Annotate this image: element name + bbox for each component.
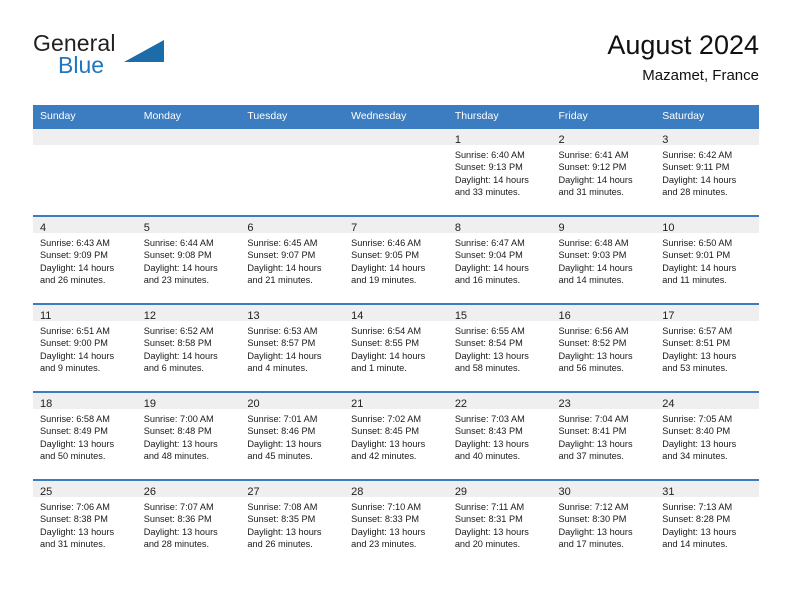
daylight-line-1: Daylight: 14 hours	[662, 174, 754, 186]
day-details: Sunrise: 7:02 AMSunset: 8:45 PMDaylight:…	[344, 409, 448, 463]
day-number: 12	[144, 310, 156, 322]
daylight-line-2: and 58 minutes.	[455, 362, 547, 374]
sunrise-line: Sunrise: 7:10 AM	[351, 501, 443, 513]
calendar-header-row: SundayMondayTuesdayWednesdayThursdayFrid…	[33, 105, 759, 128]
daylight-line-1: Daylight: 13 hours	[144, 438, 236, 450]
day-cell-inner: 15Sunrise: 6:55 AMSunset: 8:54 PMDayligh…	[448, 305, 552, 391]
day-number: 24	[662, 398, 674, 410]
day-number: 29	[455, 486, 467, 498]
weekday-header-saturday: Saturday	[655, 105, 759, 128]
daylight-line-1: Daylight: 14 hours	[144, 262, 236, 274]
calendar-day-cell[interactable]: 16Sunrise: 6:56 AMSunset: 8:52 PMDayligh…	[552, 304, 656, 392]
sunrise-line: Sunrise: 6:52 AM	[144, 325, 236, 337]
sunrise-line: Sunrise: 6:42 AM	[662, 149, 754, 161]
calendar-day-cell[interactable]: 26Sunrise: 7:07 AMSunset: 8:36 PMDayligh…	[137, 480, 241, 567]
sunrise-line: Sunrise: 7:01 AM	[247, 413, 339, 425]
sunrise-line: Sunrise: 7:04 AM	[559, 413, 651, 425]
day-number-band: 11	[33, 305, 137, 321]
day-number-band: 4	[33, 217, 137, 233]
day-details: Sunrise: 7:07 AMSunset: 8:36 PMDaylight:…	[137, 497, 241, 551]
day-number-band: 27	[240, 481, 344, 497]
day-details: Sunrise: 7:12 AMSunset: 8:30 PMDaylight:…	[552, 497, 656, 551]
daylight-line-2: and 9 minutes.	[40, 362, 132, 374]
sunrise-line: Sunrise: 6:40 AM	[455, 149, 547, 161]
sunrise-line: Sunrise: 6:51 AM	[40, 325, 132, 337]
day-number: 26	[144, 486, 156, 498]
day-number-band: 3	[655, 129, 759, 145]
daylight-line-1: Daylight: 14 hours	[247, 350, 339, 362]
calendar-day-cell[interactable]: 20Sunrise: 7:01 AMSunset: 8:46 PMDayligh…	[240, 392, 344, 480]
day-number-band: 20	[240, 393, 344, 409]
day-cell-inner: 18Sunrise: 6:58 AMSunset: 8:49 PMDayligh…	[33, 393, 137, 479]
sunset-line: Sunset: 8:31 PM	[455, 513, 547, 525]
sunset-line: Sunset: 8:51 PM	[662, 337, 754, 349]
calendar-day-cell[interactable]: 9Sunrise: 6:48 AMSunset: 9:03 PMDaylight…	[552, 216, 656, 304]
calendar-cell-empty	[137, 128, 241, 216]
day-details: Sunrise: 6:50 AMSunset: 9:01 PMDaylight:…	[655, 233, 759, 287]
daylight-line-1: Daylight: 14 hours	[144, 350, 236, 362]
calendar-day-cell[interactable]: 23Sunrise: 7:04 AMSunset: 8:41 PMDayligh…	[552, 392, 656, 480]
day-cell-inner: 10Sunrise: 6:50 AMSunset: 9:01 PMDayligh…	[655, 217, 759, 303]
day-details: Sunrise: 6:56 AMSunset: 8:52 PMDaylight:…	[552, 321, 656, 375]
day-cell-inner	[344, 129, 448, 215]
day-number: 30	[559, 486, 571, 498]
daylight-line-2: and 34 minutes.	[662, 450, 754, 462]
daylight-line-2: and 42 minutes.	[351, 450, 443, 462]
daylight-line-2: and 19 minutes.	[351, 274, 443, 286]
day-number-band: 8	[448, 217, 552, 233]
calendar-day-cell[interactable]: 11Sunrise: 6:51 AMSunset: 9:00 PMDayligh…	[33, 304, 137, 392]
daylight-line-2: and 50 minutes.	[40, 450, 132, 462]
day-details: Sunrise: 6:44 AMSunset: 9:08 PMDaylight:…	[137, 233, 241, 287]
calendar-week-row: 1Sunrise: 6:40 AMSunset: 9:13 PMDaylight…	[33, 128, 759, 216]
daylight-line-1: Daylight: 13 hours	[662, 438, 754, 450]
day-number-band: 12	[137, 305, 241, 321]
sunrise-line: Sunrise: 7:06 AM	[40, 501, 132, 513]
sunset-line: Sunset: 8:35 PM	[247, 513, 339, 525]
day-cell-inner: 16Sunrise: 6:56 AMSunset: 8:52 PMDayligh…	[552, 305, 656, 391]
day-details: Sunrise: 6:42 AMSunset: 9:11 PMDaylight:…	[655, 145, 759, 199]
daylight-line-2: and 37 minutes.	[559, 450, 651, 462]
calendar-table: SundayMondayTuesdayWednesdayThursdayFrid…	[33, 105, 759, 567]
day-number: 22	[455, 398, 467, 410]
daylight-line-2: and 33 minutes.	[455, 186, 547, 198]
day-number: 3	[662, 134, 668, 146]
day-cell-inner: 27Sunrise: 7:08 AMSunset: 8:35 PMDayligh…	[240, 481, 344, 567]
daylight-line-2: and 6 minutes.	[144, 362, 236, 374]
sunset-line: Sunset: 8:43 PM	[455, 425, 547, 437]
day-number: 9	[559, 222, 565, 234]
day-cell-inner: 26Sunrise: 7:07 AMSunset: 8:36 PMDayligh…	[137, 481, 241, 567]
calendar-day-cell[interactable]: 7Sunrise: 6:46 AMSunset: 9:05 PMDaylight…	[344, 216, 448, 304]
sunset-line: Sunset: 8:40 PM	[662, 425, 754, 437]
daylight-line-1: Daylight: 13 hours	[144, 526, 236, 538]
day-number: 13	[247, 310, 259, 322]
sunrise-line: Sunrise: 7:12 AM	[559, 501, 651, 513]
daylight-line-1: Daylight: 13 hours	[662, 526, 754, 538]
calendar-day-cell[interactable]: 12Sunrise: 6:52 AMSunset: 8:58 PMDayligh…	[137, 304, 241, 392]
calendar-day-cell[interactable]: 21Sunrise: 7:02 AMSunset: 8:45 PMDayligh…	[344, 392, 448, 480]
sunset-line: Sunset: 9:07 PM	[247, 249, 339, 261]
sunset-line: Sunset: 8:55 PM	[351, 337, 443, 349]
day-number-band: 21	[344, 393, 448, 409]
daylight-line-1: Daylight: 13 hours	[247, 526, 339, 538]
calendar-day-cell[interactable]: 13Sunrise: 6:53 AMSunset: 8:57 PMDayligh…	[240, 304, 344, 392]
daylight-line-2: and 48 minutes.	[144, 450, 236, 462]
daylight-line-2: and 28 minutes.	[144, 538, 236, 550]
day-details: Sunrise: 6:51 AMSunset: 9:00 PMDaylight:…	[33, 321, 137, 375]
daylight-line-1: Daylight: 13 hours	[247, 438, 339, 450]
calendar-day-cell[interactable]: 19Sunrise: 7:00 AMSunset: 8:48 PMDayligh…	[137, 392, 241, 480]
calendar-week-row: 11Sunrise: 6:51 AMSunset: 9:00 PMDayligh…	[33, 304, 759, 392]
day-cell-inner: 8Sunrise: 6:47 AMSunset: 9:04 PMDaylight…	[448, 217, 552, 303]
day-details: Sunrise: 6:53 AMSunset: 8:57 PMDaylight:…	[240, 321, 344, 375]
calendar-day-cell[interactable]: 18Sunrise: 6:58 AMSunset: 8:49 PMDayligh…	[33, 392, 137, 480]
sunset-line: Sunset: 9:08 PM	[144, 249, 236, 261]
day-number: 7	[351, 222, 357, 234]
sunset-line: Sunset: 9:11 PM	[662, 161, 754, 173]
day-number: 19	[144, 398, 156, 410]
daylight-line-1: Daylight: 13 hours	[40, 438, 132, 450]
daylight-line-1: Daylight: 14 hours	[40, 350, 132, 362]
sunset-line: Sunset: 8:38 PM	[40, 513, 132, 525]
daylight-line-1: Daylight: 13 hours	[559, 350, 651, 362]
daylight-line-2: and 31 minutes.	[559, 186, 651, 198]
day-number: 21	[351, 398, 363, 410]
day-number: 1	[455, 134, 461, 146]
day-cell-inner: 25Sunrise: 7:06 AMSunset: 8:38 PMDayligh…	[33, 481, 137, 567]
day-number: 14	[351, 310, 363, 322]
sunset-line: Sunset: 9:12 PM	[559, 161, 651, 173]
day-number-band: 17	[655, 305, 759, 321]
day-cell-inner	[137, 129, 241, 215]
day-cell-inner: 19Sunrise: 7:00 AMSunset: 8:48 PMDayligh…	[137, 393, 241, 479]
day-number: 5	[144, 222, 150, 234]
sunset-line: Sunset: 9:01 PM	[662, 249, 754, 261]
daylight-line-1: Daylight: 13 hours	[40, 526, 132, 538]
day-number-band: 15	[448, 305, 552, 321]
day-details: Sunrise: 7:13 AMSunset: 8:28 PMDaylight:…	[655, 497, 759, 551]
calendar-cell-empty	[344, 128, 448, 216]
sunrise-line: Sunrise: 6:56 AM	[559, 325, 651, 337]
sunset-line: Sunset: 9:09 PM	[40, 249, 132, 261]
day-cell-inner: 3Sunrise: 6:42 AMSunset: 9:11 PMDaylight…	[655, 129, 759, 215]
weekday-header-wednesday: Wednesday	[344, 105, 448, 128]
sunrise-line: Sunrise: 6:44 AM	[144, 237, 236, 249]
day-details: Sunrise: 6:58 AMSunset: 8:49 PMDaylight:…	[33, 409, 137, 463]
daylight-line-1: Daylight: 14 hours	[559, 174, 651, 186]
calendar-day-cell[interactable]: 22Sunrise: 7:03 AMSunset: 8:43 PMDayligh…	[448, 392, 552, 480]
daylight-line-2: and 16 minutes.	[455, 274, 547, 286]
calendar-day-cell[interactable]: 17Sunrise: 6:57 AMSunset: 8:51 PMDayligh…	[655, 304, 759, 392]
day-details: Sunrise: 6:40 AMSunset: 9:13 PMDaylight:…	[448, 145, 552, 199]
weekday-header-friday: Friday	[552, 105, 656, 128]
daylight-line-2: and 11 minutes.	[662, 274, 754, 286]
day-cell-inner: 28Sunrise: 7:10 AMSunset: 8:33 PMDayligh…	[344, 481, 448, 567]
sunset-line: Sunset: 9:05 PM	[351, 249, 443, 261]
daylight-line-2: and 23 minutes.	[144, 274, 236, 286]
day-cell-inner: 24Sunrise: 7:05 AMSunset: 8:40 PMDayligh…	[655, 393, 759, 479]
day-details: Sunrise: 7:00 AMSunset: 8:48 PMDaylight:…	[137, 409, 241, 463]
daylight-line-1: Daylight: 13 hours	[455, 438, 547, 450]
day-number-band: 14	[344, 305, 448, 321]
daylight-line-2: and 23 minutes.	[351, 538, 443, 550]
day-details: Sunrise: 6:45 AMSunset: 9:07 PMDaylight:…	[240, 233, 344, 287]
daylight-line-2: and 40 minutes.	[455, 450, 547, 462]
day-details: Sunrise: 6:41 AMSunset: 9:12 PMDaylight:…	[552, 145, 656, 199]
logo-text-blue: Blue	[58, 52, 104, 79]
sunset-line: Sunset: 8:48 PM	[144, 425, 236, 437]
daylight-line-1: Daylight: 14 hours	[455, 174, 547, 186]
daylight-line-1: Daylight: 13 hours	[351, 526, 443, 538]
calendar-week-row: 4Sunrise: 6:43 AMSunset: 9:09 PMDaylight…	[33, 216, 759, 304]
calendar-day-cell[interactable]: 14Sunrise: 6:54 AMSunset: 8:55 PMDayligh…	[344, 304, 448, 392]
day-cell-inner: 7Sunrise: 6:46 AMSunset: 9:05 PMDaylight…	[344, 217, 448, 303]
general-blue-logo[interactable]: General Blue	[33, 30, 253, 90]
day-number-band: 25	[33, 481, 137, 497]
sunrise-line: Sunrise: 7:02 AM	[351, 413, 443, 425]
sunrise-line: Sunrise: 6:47 AM	[455, 237, 547, 249]
sunset-line: Sunset: 8:58 PM	[144, 337, 236, 349]
sunset-line: Sunset: 8:45 PM	[351, 425, 443, 437]
sunrise-line: Sunrise: 6:48 AM	[559, 237, 651, 249]
daylight-line-1: Daylight: 14 hours	[40, 262, 132, 274]
day-details: Sunrise: 6:55 AMSunset: 8:54 PMDaylight:…	[448, 321, 552, 375]
day-cell-inner: 14Sunrise: 6:54 AMSunset: 8:55 PMDayligh…	[344, 305, 448, 391]
sunrise-line: Sunrise: 6:41 AM	[559, 149, 651, 161]
weekday-header-monday: Monday	[137, 105, 241, 128]
day-number-band: 7	[344, 217, 448, 233]
day-cell-inner	[240, 129, 344, 215]
daylight-line-2: and 21 minutes.	[247, 274, 339, 286]
daylight-line-1: Daylight: 13 hours	[351, 438, 443, 450]
day-cell-inner: 23Sunrise: 7:04 AMSunset: 8:41 PMDayligh…	[552, 393, 656, 479]
day-number: 18	[40, 398, 52, 410]
day-number-band: 26	[137, 481, 241, 497]
triangle-icon	[124, 40, 164, 62]
daylight-line-1: Daylight: 14 hours	[455, 262, 547, 274]
day-details: Sunrise: 7:04 AMSunset: 8:41 PMDaylight:…	[552, 409, 656, 463]
day-number-band: 2	[552, 129, 656, 145]
calendar-day-cell[interactable]: 24Sunrise: 7:05 AMSunset: 8:40 PMDayligh…	[655, 392, 759, 480]
day-number: 16	[559, 310, 571, 322]
day-number: 11	[40, 310, 51, 322]
sunset-line: Sunset: 8:36 PM	[144, 513, 236, 525]
calendar-day-cell[interactable]: 5Sunrise: 6:44 AMSunset: 9:08 PMDaylight…	[137, 216, 241, 304]
sunrise-line: Sunrise: 6:58 AM	[40, 413, 132, 425]
calendar-day-cell[interactable]: 27Sunrise: 7:08 AMSunset: 8:35 PMDayligh…	[240, 480, 344, 567]
sunrise-line: Sunrise: 7:05 AM	[662, 413, 754, 425]
day-number-band: 18	[33, 393, 137, 409]
day-details: Sunrise: 7:11 AMSunset: 8:31 PMDaylight:…	[448, 497, 552, 551]
day-cell-inner: 1Sunrise: 6:40 AMSunset: 9:13 PMDaylight…	[448, 129, 552, 215]
day-number-band: 24	[655, 393, 759, 409]
page-header: General Blue August 2024 Mazamet, France	[33, 28, 759, 98]
sunrise-line: Sunrise: 7:07 AM	[144, 501, 236, 513]
daylight-line-1: Daylight: 14 hours	[247, 262, 339, 274]
sunrise-line: Sunrise: 7:11 AM	[455, 501, 547, 513]
sunrise-line: Sunrise: 7:13 AM	[662, 501, 754, 513]
sunrise-line: Sunrise: 7:08 AM	[247, 501, 339, 513]
day-number-band	[33, 129, 137, 145]
day-number-band: 23	[552, 393, 656, 409]
calendar-day-cell[interactable]: 4Sunrise: 6:43 AMSunset: 9:09 PMDaylight…	[33, 216, 137, 304]
daylight-line-1: Daylight: 13 hours	[559, 438, 651, 450]
daylight-line-2: and 56 minutes.	[559, 362, 651, 374]
calendar-cell-empty	[33, 128, 137, 216]
day-details: Sunrise: 6:52 AMSunset: 8:58 PMDaylight:…	[137, 321, 241, 375]
daylight-line-2: and 1 minute.	[351, 362, 443, 374]
calendar-day-cell[interactable]: 30Sunrise: 7:12 AMSunset: 8:30 PMDayligh…	[552, 480, 656, 567]
calendar-day-cell[interactable]: 15Sunrise: 6:55 AMSunset: 8:54 PMDayligh…	[448, 304, 552, 392]
sunset-line: Sunset: 9:13 PM	[455, 161, 547, 173]
sunrise-line: Sunrise: 6:50 AM	[662, 237, 754, 249]
day-cell-inner: 4Sunrise: 6:43 AMSunset: 9:09 PMDaylight…	[33, 217, 137, 303]
daylight-line-2: and 4 minutes.	[247, 362, 339, 374]
day-number-band: 29	[448, 481, 552, 497]
weekday-header-sunday: Sunday	[33, 105, 137, 128]
day-number-band: 5	[137, 217, 241, 233]
day-details: Sunrise: 7:03 AMSunset: 8:43 PMDaylight:…	[448, 409, 552, 463]
sunrise-line: Sunrise: 6:54 AM	[351, 325, 443, 337]
sunrise-line: Sunrise: 6:43 AM	[40, 237, 132, 249]
day-number-band: 1	[448, 129, 552, 145]
day-details: Sunrise: 6:48 AMSunset: 9:03 PMDaylight:…	[552, 233, 656, 287]
sunrise-line: Sunrise: 6:55 AM	[455, 325, 547, 337]
day-number-band: 30	[552, 481, 656, 497]
sunset-line: Sunset: 8:28 PM	[662, 513, 754, 525]
day-number: 6	[247, 222, 253, 234]
day-details: Sunrise: 6:54 AMSunset: 8:55 PMDaylight:…	[344, 321, 448, 375]
sunset-line: Sunset: 9:00 PM	[40, 337, 132, 349]
sunrise-line: Sunrise: 7:00 AM	[144, 413, 236, 425]
day-details: Sunrise: 7:06 AMSunset: 8:38 PMDaylight:…	[33, 497, 137, 551]
day-cell-inner: 21Sunrise: 7:02 AMSunset: 8:45 PMDayligh…	[344, 393, 448, 479]
weekday-header-tuesday: Tuesday	[240, 105, 344, 128]
sunrise-line: Sunrise: 6:45 AM	[247, 237, 339, 249]
daylight-line-2: and 17 minutes.	[559, 538, 651, 550]
calendar-day-cell[interactable]: 31Sunrise: 7:13 AMSunset: 8:28 PMDayligh…	[655, 480, 759, 567]
day-details: Sunrise: 6:43 AMSunset: 9:09 PMDaylight:…	[33, 233, 137, 287]
day-cell-inner: 22Sunrise: 7:03 AMSunset: 8:43 PMDayligh…	[448, 393, 552, 479]
day-details: Sunrise: 6:46 AMSunset: 9:05 PMDaylight:…	[344, 233, 448, 287]
day-number-band: 22	[448, 393, 552, 409]
day-cell-inner: 20Sunrise: 7:01 AMSunset: 8:46 PMDayligh…	[240, 393, 344, 479]
page-subtitle-location: Mazamet, France	[607, 65, 759, 87]
day-details: Sunrise: 7:10 AMSunset: 8:33 PMDaylight:…	[344, 497, 448, 551]
day-number-band: 31	[655, 481, 759, 497]
sunset-line: Sunset: 8:41 PM	[559, 425, 651, 437]
daylight-line-2: and 53 minutes.	[662, 362, 754, 374]
daylight-line-2: and 14 minutes.	[662, 538, 754, 550]
sunrise-line: Sunrise: 7:03 AM	[455, 413, 547, 425]
day-number: 15	[455, 310, 467, 322]
calendar-day-cell[interactable]: 6Sunrise: 6:45 AMSunset: 9:07 PMDaylight…	[240, 216, 344, 304]
day-number: 20	[247, 398, 259, 410]
daylight-line-1: Daylight: 13 hours	[455, 350, 547, 362]
calendar-grid: SundayMondayTuesdayWednesdayThursdayFrid…	[33, 105, 759, 567]
day-number-band	[344, 129, 448, 145]
day-number-band	[240, 129, 344, 145]
daylight-line-1: Daylight: 13 hours	[455, 526, 547, 538]
daylight-line-1: Daylight: 13 hours	[559, 526, 651, 538]
calendar-page: General Blue August 2024 Mazamet, France…	[0, 0, 792, 612]
day-number-band	[137, 129, 241, 145]
daylight-line-2: and 31 minutes.	[40, 538, 132, 550]
day-number-band: 19	[137, 393, 241, 409]
title-block: August 2024 Mazamet, France	[607, 28, 759, 87]
day-number-band: 10	[655, 217, 759, 233]
day-number-band: 9	[552, 217, 656, 233]
weekday-header-thursday: Thursday	[448, 105, 552, 128]
sunset-line: Sunset: 8:46 PM	[247, 425, 339, 437]
daylight-line-1: Daylight: 14 hours	[662, 262, 754, 274]
calendar-cell-empty	[240, 128, 344, 216]
daylight-line-1: Daylight: 14 hours	[351, 262, 443, 274]
day-number: 27	[247, 486, 259, 498]
calendar-day-cell[interactable]: 25Sunrise: 7:06 AMSunset: 8:38 PMDayligh…	[33, 480, 137, 567]
day-cell-inner: 6Sunrise: 6:45 AMSunset: 9:07 PMDaylight…	[240, 217, 344, 303]
day-details: Sunrise: 7:05 AMSunset: 8:40 PMDaylight:…	[655, 409, 759, 463]
day-cell-inner: 9Sunrise: 6:48 AMSunset: 9:03 PMDaylight…	[552, 217, 656, 303]
sunrise-line: Sunrise: 6:46 AM	[351, 237, 443, 249]
day-number-band: 6	[240, 217, 344, 233]
sunset-line: Sunset: 8:57 PM	[247, 337, 339, 349]
daylight-line-1: Daylight: 14 hours	[351, 350, 443, 362]
sunset-line: Sunset: 8:49 PM	[40, 425, 132, 437]
daylight-line-1: Daylight: 14 hours	[559, 262, 651, 274]
sunrise-line: Sunrise: 6:53 AM	[247, 325, 339, 337]
daylight-line-1: Daylight: 13 hours	[662, 350, 754, 362]
calendar-day-cell[interactable]: 3Sunrise: 6:42 AMSunset: 9:11 PMDaylight…	[655, 128, 759, 216]
day-cell-inner: 31Sunrise: 7:13 AMSunset: 8:28 PMDayligh…	[655, 481, 759, 567]
calendar-day-cell[interactable]: 29Sunrise: 7:11 AMSunset: 8:31 PMDayligh…	[448, 480, 552, 567]
calendar-day-cell[interactable]: 10Sunrise: 6:50 AMSunset: 9:01 PMDayligh…	[655, 216, 759, 304]
daylight-line-2: and 26 minutes.	[40, 274, 132, 286]
day-cell-inner: 2Sunrise: 6:41 AMSunset: 9:12 PMDaylight…	[552, 129, 656, 215]
calendar-day-cell[interactable]: 8Sunrise: 6:47 AMSunset: 9:04 PMDaylight…	[448, 216, 552, 304]
daylight-line-2: and 45 minutes.	[247, 450, 339, 462]
day-number-band: 28	[344, 481, 448, 497]
sunset-line: Sunset: 8:33 PM	[351, 513, 443, 525]
calendar-day-cell[interactable]: 2Sunrise: 6:41 AMSunset: 9:12 PMDaylight…	[552, 128, 656, 216]
day-details: Sunrise: 7:01 AMSunset: 8:46 PMDaylight:…	[240, 409, 344, 463]
calendar-week-row: 18Sunrise: 6:58 AMSunset: 8:49 PMDayligh…	[33, 392, 759, 480]
sunset-line: Sunset: 8:52 PM	[559, 337, 651, 349]
day-number: 10	[662, 222, 674, 234]
calendar-day-cell[interactable]: 1Sunrise: 6:40 AMSunset: 9:13 PMDaylight…	[448, 128, 552, 216]
day-number-band: 13	[240, 305, 344, 321]
daylight-line-2: and 28 minutes.	[662, 186, 754, 198]
day-details: Sunrise: 6:47 AMSunset: 9:04 PMDaylight:…	[448, 233, 552, 287]
day-number: 17	[662, 310, 674, 322]
day-number: 4	[40, 222, 46, 234]
sunset-line: Sunset: 9:03 PM	[559, 249, 651, 261]
day-details: Sunrise: 6:57 AMSunset: 8:51 PMDaylight:…	[655, 321, 759, 375]
day-cell-inner: 12Sunrise: 6:52 AMSunset: 8:58 PMDayligh…	[137, 305, 241, 391]
daylight-line-2: and 14 minutes.	[559, 274, 651, 286]
daylight-line-2: and 26 minutes.	[247, 538, 339, 550]
day-details: Sunrise: 7:08 AMSunset: 8:35 PMDaylight:…	[240, 497, 344, 551]
calendar-day-cell[interactable]: 28Sunrise: 7:10 AMSunset: 8:33 PMDayligh…	[344, 480, 448, 567]
daylight-line-2: and 20 minutes.	[455, 538, 547, 550]
sunrise-line: Sunrise: 6:57 AM	[662, 325, 754, 337]
day-cell-inner: 5Sunrise: 6:44 AMSunset: 9:08 PMDaylight…	[137, 217, 241, 303]
day-cell-inner: 17Sunrise: 6:57 AMSunset: 8:51 PMDayligh…	[655, 305, 759, 391]
calendar-week-row: 25Sunrise: 7:06 AMSunset: 8:38 PMDayligh…	[33, 480, 759, 567]
day-cell-inner: 13Sunrise: 6:53 AMSunset: 8:57 PMDayligh…	[240, 305, 344, 391]
sunset-line: Sunset: 8:54 PM	[455, 337, 547, 349]
